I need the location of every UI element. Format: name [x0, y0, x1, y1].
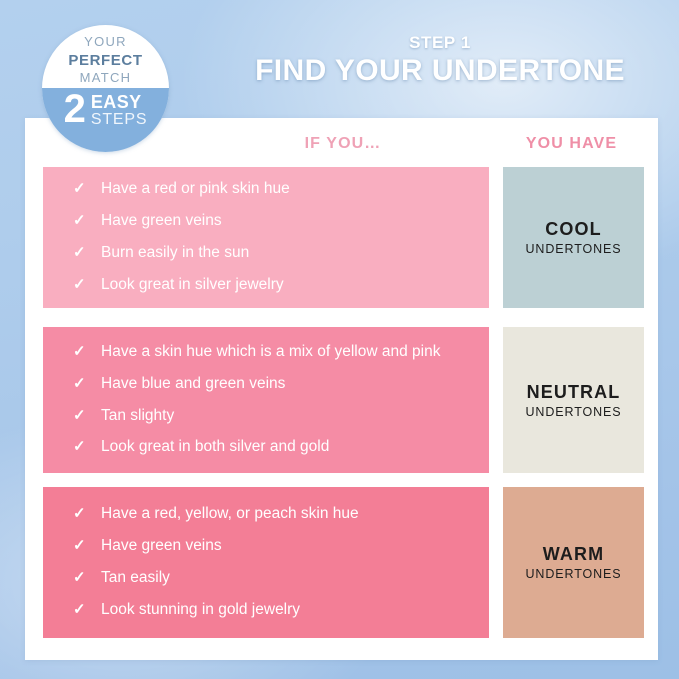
criteria-panel: ✓ Have a red, yellow, or peach skin hue …	[43, 487, 489, 638]
swatch-subtitle: UNDERTONES	[525, 242, 621, 256]
check-icon: ✓	[73, 211, 101, 231]
check-icon: ✓	[73, 437, 101, 457]
list-item-label: Look great in both silver and gold	[101, 437, 473, 458]
table-row: ✓ Have a red or pink skin hue ✓ Have gre…	[43, 167, 644, 308]
list-item-label: Tan easily	[101, 568, 473, 589]
undertone-swatch-neutral: NEUTRAL UNDERTONES	[503, 327, 644, 473]
check-icon: ✓	[73, 275, 101, 295]
list-item: ✓ Have green veins	[73, 206, 473, 238]
list-item: ✓ Look great in silver jewelry	[73, 269, 473, 301]
list-item: ✓ Have a red or pink skin hue	[73, 174, 473, 206]
perfect-match-badge: YOUR PERFECT MATCH 2 EASY STEPS	[42, 25, 169, 152]
badge-line-your: YOUR	[42, 34, 169, 51]
table-row: ✓ Have a skin hue which is a mix of yell…	[43, 327, 644, 473]
list-item: ✓ Have blue and green veins	[73, 368, 473, 400]
list-item-label: Have blue and green veins	[101, 374, 473, 395]
check-icon: ✓	[73, 342, 101, 362]
step-label: STEP 1	[215, 33, 665, 53]
column-header-you-have: YOU HAVE	[497, 135, 646, 153]
list-item-label: Have a skin hue which is a mix of yellow…	[101, 342, 473, 363]
badge-line-perfect: PERFECT	[42, 51, 169, 70]
list-item: ✓ Look great in both silver and gold	[73, 432, 473, 464]
badge-steps-wrap: EASY STEPS	[91, 91, 147, 128]
undertone-swatch-cool: COOL UNDERTONES	[503, 167, 644, 308]
check-icon: ✓	[73, 600, 101, 620]
check-icon: ✓	[73, 536, 101, 556]
infographic-page: STEP 1 FIND YOUR UNDERTONE YOUR PERFECT …	[0, 0, 679, 679]
list-item-label: Burn easily in the sun	[101, 243, 473, 264]
check-icon: ✓	[73, 374, 101, 394]
criteria-panel: ✓ Have a skin hue which is a mix of yell…	[43, 327, 489, 473]
list-item: ✓ Tan easily	[73, 563, 473, 595]
badge-line-match: MATCH	[42, 70, 169, 87]
list-item-label: Have a red, yellow, or peach skin hue	[101, 504, 473, 525]
swatch-name: COOL	[545, 219, 601, 240]
check-icon: ✓	[73, 504, 101, 524]
page-title: FIND YOUR UNDERTONE	[215, 54, 665, 88]
badge-top-text: YOUR PERFECT MATCH	[42, 34, 169, 86]
check-icon: ✓	[73, 243, 101, 263]
swatch-subtitle: UNDERTONES	[525, 567, 621, 581]
check-icon: ✓	[73, 179, 101, 199]
list-item: ✓ Have green veins	[73, 531, 473, 563]
swatch-name: WARM	[543, 544, 604, 565]
check-icon: ✓	[73, 568, 101, 588]
list-item-label: Have green veins	[101, 536, 473, 557]
list-item: ✓ Burn easily in the sun	[73, 238, 473, 270]
list-item-label: Tan slighty	[101, 406, 473, 427]
list-item-label: Have green veins	[101, 211, 473, 232]
list-item: ✓ Tan slighty	[73, 400, 473, 432]
list-item: ✓ Have a red, yellow, or peach skin hue	[73, 499, 473, 531]
badge-bottom-text: 2 EASY STEPS	[42, 91, 169, 128]
badge-easy-label: EASY	[91, 93, 147, 112]
list-item: ✓ Look stunning in gold jewelry	[73, 594, 473, 626]
list-item-label: Look great in silver jewelry	[101, 275, 473, 296]
criteria-panel: ✓ Have a red or pink skin hue ✓ Have gre…	[43, 167, 489, 308]
badge-steps-label: STEPS	[91, 112, 147, 129]
badge-step-count: 2	[64, 91, 86, 128]
column-header-if-you: IF YOU…	[193, 135, 493, 153]
undertone-swatch-warm: WARM UNDERTONES	[503, 487, 644, 638]
list-item: ✓ Have a skin hue which is a mix of yell…	[73, 336, 473, 368]
swatch-name: NEUTRAL	[527, 382, 621, 403]
swatch-subtitle: UNDERTONES	[525, 405, 621, 419]
check-icon: ✓	[73, 406, 101, 426]
list-item-label: Look stunning in gold jewelry	[101, 600, 473, 621]
table-row: ✓ Have a red, yellow, or peach skin hue …	[43, 487, 644, 638]
list-item-label: Have a red or pink skin hue	[101, 179, 473, 200]
